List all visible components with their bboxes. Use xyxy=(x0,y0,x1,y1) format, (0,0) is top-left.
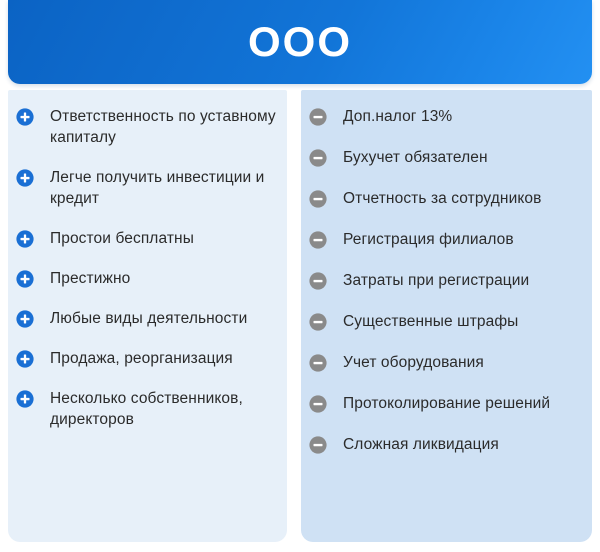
list-item[interactable]: Протоколирование решений xyxy=(309,393,584,414)
minus-circle-icon xyxy=(309,313,327,331)
list-item-label: Бухучет обязателен xyxy=(343,147,584,168)
list-item[interactable]: Ответственность по уставному капиталу xyxy=(16,106,279,148)
list-item-label: Любые виды деятельности xyxy=(50,308,279,329)
list-item-label: Несколько собственников, директоров xyxy=(50,388,279,430)
list-item-label: Ответственность по уставному капиталу xyxy=(50,106,279,148)
list-item-label: Учет оборудования xyxy=(343,352,584,373)
plus-circle-icon xyxy=(16,390,34,408)
plus-circle-icon xyxy=(16,270,34,288)
plus-circle-icon xyxy=(16,310,34,328)
minus-circle-icon xyxy=(309,436,327,454)
list-item[interactable]: Затраты при регистрации xyxy=(309,270,584,291)
plus-circle-icon xyxy=(16,230,34,248)
list-item[interactable]: Доп.налог 13% xyxy=(309,106,584,127)
page-title: ООО xyxy=(248,21,352,63)
columns-wrapper: Ответственность по уставному капиталу Ле… xyxy=(8,90,592,542)
infographic-card: ООО Ответственность по уставному капитал… xyxy=(0,0,600,552)
header-banner: ООО xyxy=(8,0,592,84)
plus-circle-icon xyxy=(16,350,34,368)
cons-panel: Доп.налог 13% Бухучет обязателен xyxy=(301,90,592,542)
cons-list: Доп.налог 13% Бухучет обязателен xyxy=(309,106,584,455)
list-item-label: Регистрация филиалов xyxy=(343,229,584,250)
minus-circle-icon xyxy=(309,395,327,413)
minus-circle-icon xyxy=(309,190,327,208)
list-item-label: Престижно xyxy=(50,268,279,289)
list-item-label: Сложная ликвидация xyxy=(343,434,584,455)
list-item[interactable]: Продажа, реорганизация xyxy=(16,348,279,369)
pros-panel: Ответственность по уставному капиталу Ле… xyxy=(8,90,287,542)
list-item[interactable]: Легче получить инвестиции и кредит xyxy=(16,167,279,209)
minus-circle-icon xyxy=(309,354,327,372)
list-item-label: Существенные штрафы xyxy=(343,311,584,332)
minus-circle-icon xyxy=(309,272,327,290)
list-item[interactable]: Бухучет обязателен xyxy=(309,147,584,168)
list-item-label: Протоколирование решений xyxy=(343,393,584,414)
list-item[interactable]: Престижно xyxy=(16,268,279,289)
list-item-label: Доп.налог 13% xyxy=(343,106,584,127)
list-item[interactable]: Несколько собственников, директоров xyxy=(16,388,279,430)
list-item[interactable]: Отчетность за сотрудников xyxy=(309,188,584,209)
pros-list: Ответственность по уставному капиталу Ле… xyxy=(16,106,279,430)
minus-circle-icon xyxy=(309,231,327,249)
list-item[interactable]: Любые виды деятельности xyxy=(16,308,279,329)
minus-circle-icon xyxy=(309,108,327,126)
list-item-label: Продажа, реорганизация xyxy=(50,348,279,369)
list-item-label: Отчетность за сотрудников xyxy=(343,188,584,209)
list-item-label: Легче получить инвестиции и кредит xyxy=(50,167,279,209)
plus-circle-icon xyxy=(16,169,34,187)
list-item[interactable]: Регистрация филиалов xyxy=(309,229,584,250)
list-item[interactable]: Сложная ликвидация xyxy=(309,434,584,455)
list-item-label: Затраты при регистрации xyxy=(343,270,584,291)
list-item[interactable]: Простои бесплатны xyxy=(16,228,279,249)
list-item[interactable]: Учет оборудования xyxy=(309,352,584,373)
minus-circle-icon xyxy=(309,149,327,167)
plus-circle-icon xyxy=(16,108,34,126)
list-item[interactable]: Существенные штрафы xyxy=(309,311,584,332)
list-item-label: Простои бесплатны xyxy=(50,228,279,249)
